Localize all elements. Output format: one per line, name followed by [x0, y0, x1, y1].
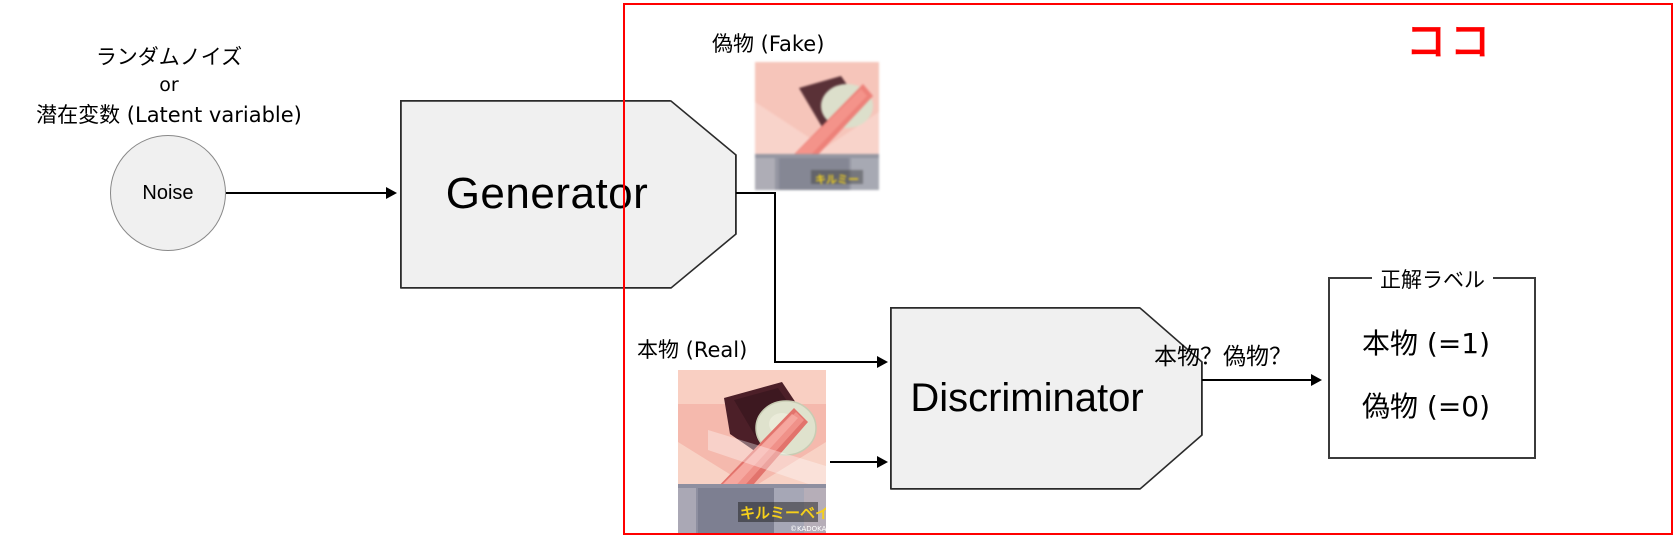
noise-caption-line1: ランダムノイズ [14, 42, 324, 72]
diagram-canvas: ランダムノイズ or 潜在変数 (Latent variable) Noise … [0, 0, 1676, 538]
koko-marker: ココ [1406, 22, 1494, 62]
fake-image: キルミー [755, 62, 879, 190]
real-image: キルミーベイベー ©KADOKAWA [678, 370, 826, 535]
answer-label-real: 本物 (=1) [1362, 322, 1490, 362]
verdict-text: 本物？偽物？ [1154, 337, 1292, 371]
arrow-fake-to-discriminator-head [877, 356, 888, 368]
arrow-fake-to-discriminator-line [774, 361, 878, 363]
svg-text:キルミーベイベー: キルミーベイベー [740, 504, 826, 522]
generator-node[interactable]: Generator [400, 100, 736, 288]
arrow-real-to-discriminator-line [830, 461, 878, 463]
answer-label-fake: 偽物 (=0) [1362, 385, 1490, 425]
real-caption: 本物 (Real) [637, 334, 747, 364]
answer-label-legend: 正解ラベル [1372, 264, 1493, 294]
fake-caption: 偽物 (Fake) [712, 28, 824, 58]
arrow-noise-to-generator-head [386, 187, 397, 199]
generator-output-drop-line [774, 192, 776, 362]
arrow-real-to-discriminator-head [877, 456, 888, 468]
answer-label-box [1328, 277, 1536, 459]
noise-node[interactable]: Noise [110, 135, 226, 251]
noise-caption: ランダムノイズ or 潜在変数 (Latent variable) [14, 42, 324, 130]
arrow-discriminator-to-label-head [1311, 374, 1322, 386]
svg-text:©KADOKAWA: ©KADOKAWA [790, 525, 826, 533]
discriminator-node[interactable]: Discriminator [890, 307, 1202, 489]
noise-caption-line3: 潜在変数 (Latent variable) [14, 100, 324, 130]
generator-output-line [736, 192, 776, 194]
generator-label: Generator [446, 169, 649, 219]
discriminator-label: Discriminator [910, 376, 1143, 421]
noise-caption-line2: or [14, 72, 324, 100]
noise-node-label: Noise [142, 182, 193, 205]
arrow-discriminator-to-label-line [1202, 379, 1312, 381]
arrow-noise-to-generator-line [226, 192, 386, 194]
